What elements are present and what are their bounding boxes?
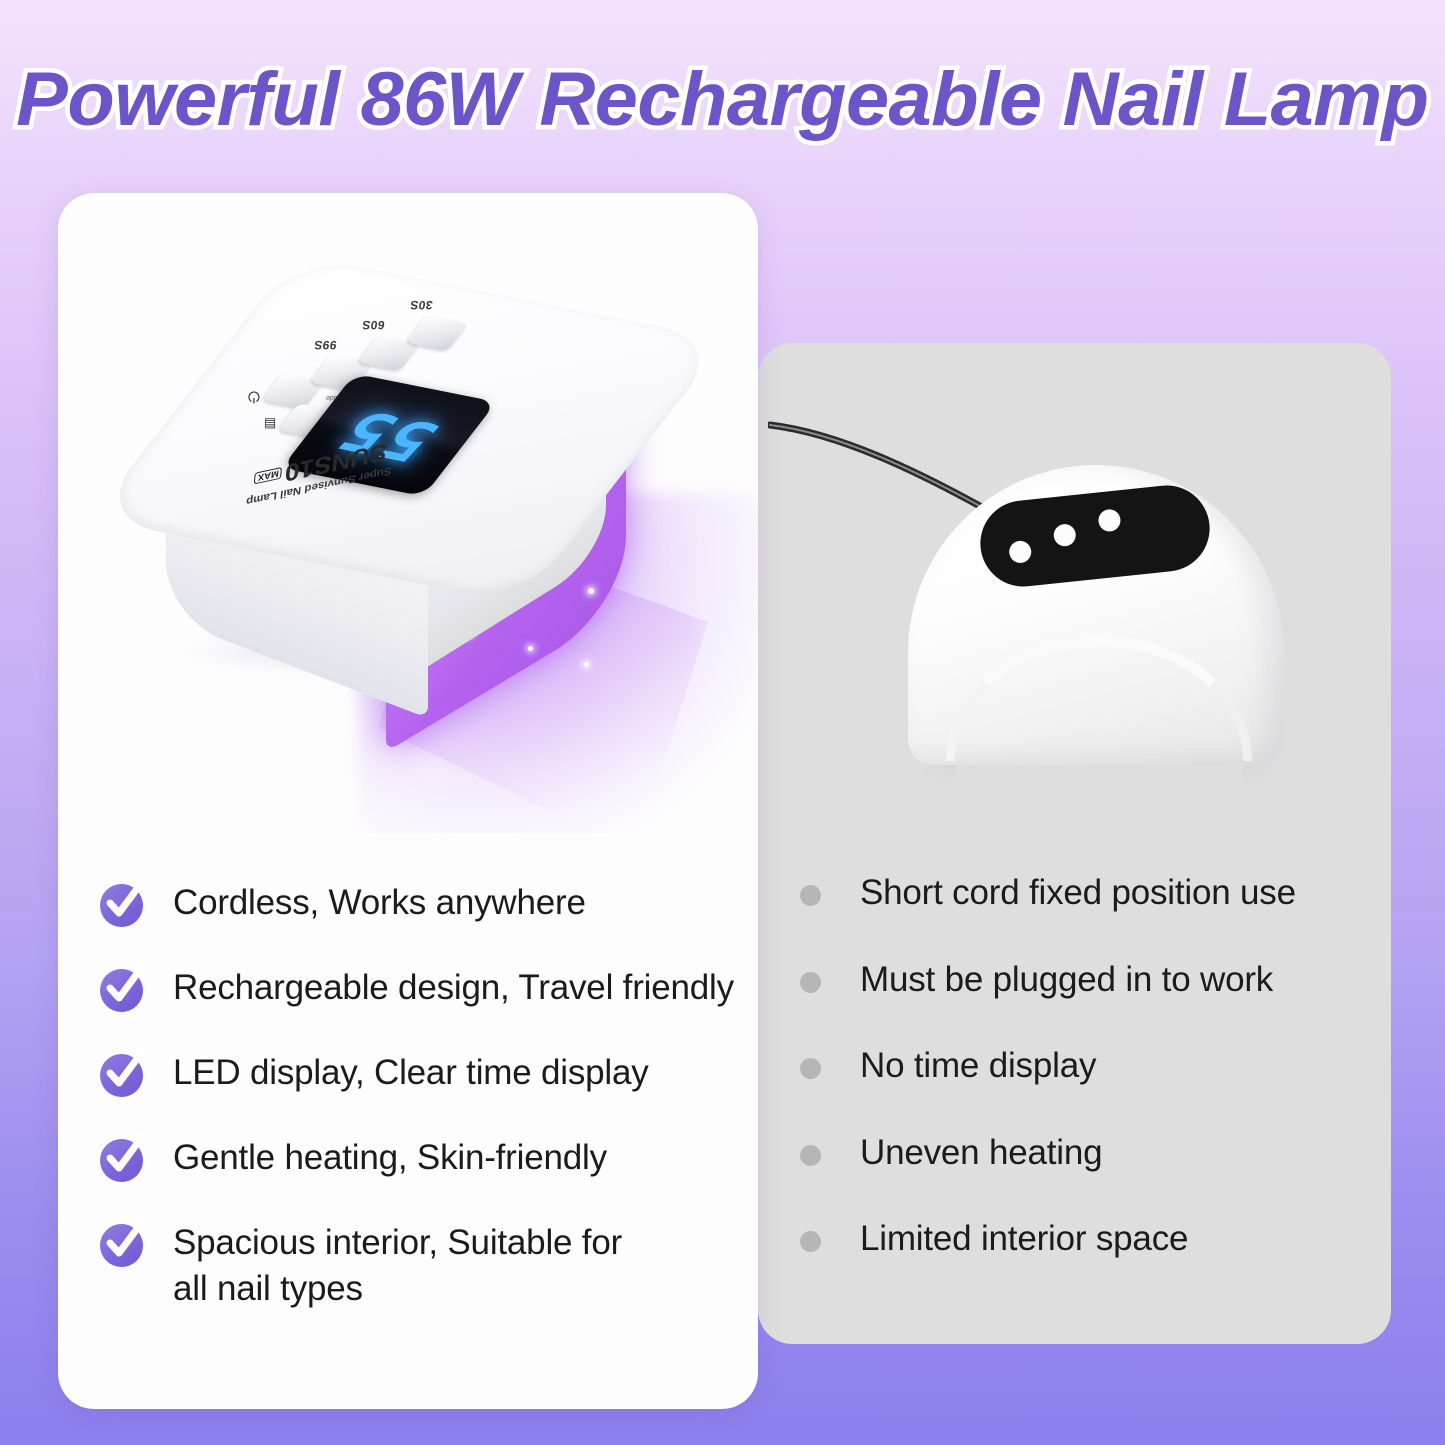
timer-label-60s: 60S — [361, 318, 386, 332]
dot-icon — [800, 1058, 821, 1079]
product-image: ⏻ ▤ 99S 60S 30S Low Heat Mode 55 Super S… — [58, 193, 758, 833]
list-item: Short cord fixed position use — [800, 870, 1360, 916]
page-title: Powerful 86W Rechargeable Nail Lamp — [16, 56, 1428, 143]
timer-label-30s: 30S — [409, 298, 434, 312]
competitor-button-3 — [1097, 508, 1121, 532]
battery-icon: ▤ — [264, 416, 276, 432]
con-item-text: Limited interior space — [860, 1216, 1188, 1262]
pros-list: Cordless, Works anywhere Rechargeable de… — [100, 880, 740, 1311]
dot-icon — [800, 885, 821, 906]
pro-item-text: Spacious interior, Suitable for all nail… — [173, 1220, 643, 1311]
led-sparkle — [584, 662, 589, 667]
check-icon — [100, 884, 143, 927]
con-item-text: Uneven heating — [860, 1130, 1102, 1176]
nail-lamp-device: ⏻ ▤ 99S 60S 30S Low Heat Mode 55 Super S… — [136, 258, 646, 758]
list-item: Uneven heating — [800, 1130, 1360, 1176]
list-item: Must be plugged in to work — [800, 957, 1360, 1003]
pro-item-text: LED display, Clear time display — [173, 1050, 649, 1096]
competitor-button-1 — [1008, 540, 1032, 564]
dot-icon — [800, 972, 821, 993]
list-item: Cordless, Works anywhere — [100, 880, 740, 927]
dot-icon — [800, 1145, 821, 1166]
con-item-text: Must be plugged in to work — [860, 957, 1273, 1003]
list-item: Spacious interior, Suitable for all nail… — [100, 1220, 740, 1311]
competitor-product-image — [758, 343, 1391, 873]
list-item: Limited interior space — [800, 1216, 1360, 1262]
list-item: Gentle heating, Skin-friendly — [100, 1135, 740, 1182]
led-sparkle — [528, 646, 533, 651]
check-icon — [100, 969, 143, 1012]
competitor-button-2 — [1053, 523, 1077, 547]
page-title-container: Powerful 86W Rechargeable Nail Lamp — [0, 44, 1445, 154]
check-icon — [100, 1054, 143, 1097]
check-icon — [100, 1224, 143, 1267]
timer-label-99s: 99S — [313, 338, 338, 352]
brand-max-badge: MAX — [254, 466, 282, 484]
power-icon: ⏻ — [248, 388, 260, 405]
list-item: No time display — [800, 1043, 1360, 1089]
pro-item-text: Rechargeable design, Travel friendly — [173, 965, 734, 1011]
pro-item-text: Gentle heating, Skin-friendly — [173, 1135, 607, 1181]
dot-icon — [800, 1231, 821, 1252]
con-item-text: No time display — [860, 1043, 1096, 1089]
list-item: LED display, Clear time display — [100, 1050, 740, 1097]
con-item-text: Short cord fixed position use — [860, 870, 1296, 916]
list-item: Rechargeable design, Travel friendly — [100, 965, 740, 1012]
pro-item-text: Cordless, Works anywhere — [173, 880, 586, 926]
check-icon — [100, 1139, 143, 1182]
cons-list: Short cord fixed position use Must be pl… — [800, 870, 1360, 1262]
led-sparkle — [588, 588, 594, 594]
